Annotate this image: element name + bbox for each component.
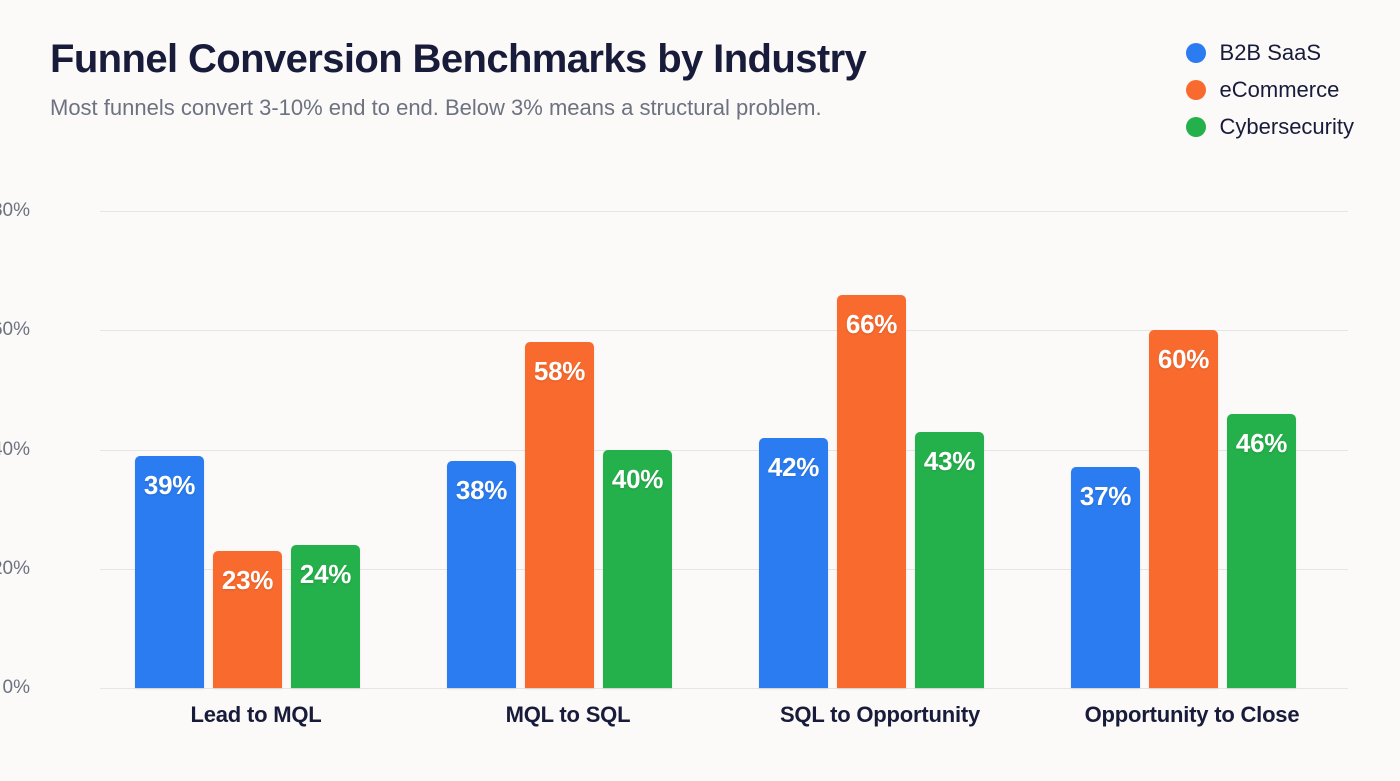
bar-group-sql-to-opportunity: 42% 66% 43% [724,211,1036,688]
bar-value-label: 23% [213,565,282,596]
y-axis-tick-20: 20% [0,558,30,580]
bar-sql-to-opportunity-b2b-saas[interactable]: 42% [759,438,828,688]
bar-group-mql-to-sql: 38% 58% 40% [412,211,724,688]
bar-lead-to-mql-cybersecurity[interactable]: 24% [291,545,360,688]
x-axis-label-opportunity-to-close: Opportunity to Close [1036,702,1348,728]
bar-value-label: 38% [447,475,516,506]
bar-mql-to-sql-b2b-saas[interactable]: 38% [447,461,516,688]
gridline-0 [100,688,1348,689]
y-axis-tick-0: 0% [0,677,30,699]
x-axis-label-sql-to-opportunity: SQL to Opportunity [724,702,1036,728]
bar-opportunity-to-close-ecommerce[interactable]: 60% [1149,330,1218,688]
bar-value-label: 42% [759,452,828,483]
x-axis-label-mql-to-sql: MQL to SQL [412,702,724,728]
bar-chart-plot: 80% 60% 40% 20% 0% 39% 23% 24% 38% [0,0,1400,781]
bar-sql-to-opportunity-cybersecurity[interactable]: 43% [915,432,984,688]
y-axis-tick-60: 60% [0,319,30,341]
bar-value-label: 39% [135,470,204,501]
bar-opportunity-to-close-cybersecurity[interactable]: 46% [1227,414,1296,688]
bar-sql-to-opportunity-ecommerce[interactable]: 66% [837,295,906,689]
bar-lead-to-mql-ecommerce[interactable]: 23% [213,551,282,688]
bar-lead-to-mql-b2b-saas[interactable]: 39% [135,456,204,689]
bar-value-label: 37% [1071,481,1140,512]
y-axis-tick-80: 80% [0,200,30,222]
bar-group-opportunity-to-close: 37% 60% 46% [1036,211,1348,688]
bar-value-label: 66% [837,309,906,340]
bar-value-label: 46% [1227,428,1296,459]
bar-opportunity-to-close-b2b-saas[interactable]: 37% [1071,467,1140,688]
bar-value-label: 58% [525,356,594,387]
chart-bars: 39% 23% 24% 38% 58% 40% 42% [100,211,1348,688]
bar-value-label: 60% [1149,344,1218,375]
y-axis-tick-40: 40% [0,439,30,461]
bar-value-label: 24% [291,559,360,590]
bar-value-label: 43% [915,446,984,477]
bar-mql-to-sql-cybersecurity[interactable]: 40% [603,450,672,689]
bar-group-lead-to-mql: 39% 23% 24% [100,211,412,688]
x-axis-label-lead-to-mql: Lead to MQL [100,702,412,728]
bar-mql-to-sql-ecommerce[interactable]: 58% [525,342,594,688]
bar-value-label: 40% [603,464,672,495]
